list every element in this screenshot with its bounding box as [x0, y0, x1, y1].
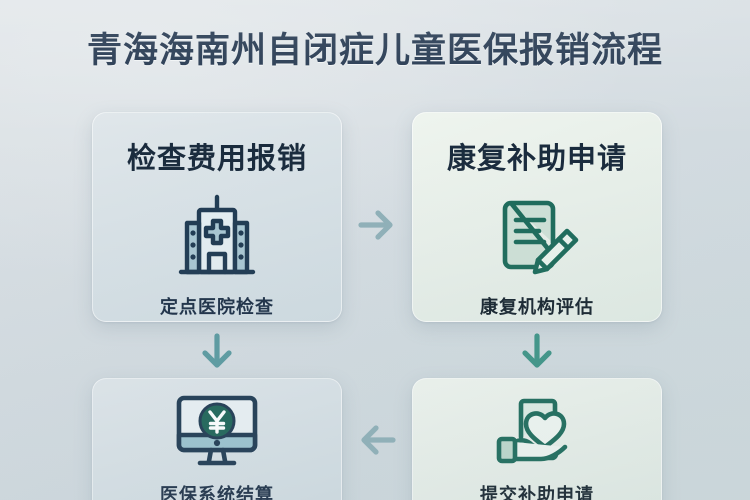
flow-card-insurance-settlement[interactable]: 医保系统结算	[92, 378, 342, 500]
monitor-yen-icon	[93, 393, 341, 471]
flowchart-canvas: 青海海南州自闭症儿童医保报销流程 检查费用报销 定点	[0, 0, 750, 500]
card-title: 检查费用报销	[93, 135, 341, 177]
page-title: 青海海南州自闭症儿童医保报销流程	[0, 22, 750, 73]
card-caption: 医保系统结算	[93, 481, 341, 500]
flow-card-rehab-subsidy-application[interactable]: 康复补助申请 康复机构评估	[412, 112, 662, 322]
card-caption: 提交补助申请	[413, 481, 661, 500]
arrow-right-icon	[352, 200, 402, 250]
flow-card-submit-subsidy-application[interactable]: 提交补助申请	[412, 378, 662, 500]
flow-card-inspection-reimbursement[interactable]: 检查费用报销 定点医院检查	[92, 112, 342, 322]
card-caption: 定点医院检查	[93, 293, 341, 319]
arrow-down-icon	[512, 328, 562, 376]
arrow-left-icon	[352, 415, 402, 465]
document-pencil-icon	[413, 193, 661, 279]
hand-heart-icon	[413, 393, 661, 471]
card-title: 康复补助申请	[413, 135, 661, 177]
card-caption: 康复机构评估	[413, 293, 661, 319]
arrow-down-icon	[192, 328, 242, 376]
hospital-icon	[93, 193, 341, 279]
